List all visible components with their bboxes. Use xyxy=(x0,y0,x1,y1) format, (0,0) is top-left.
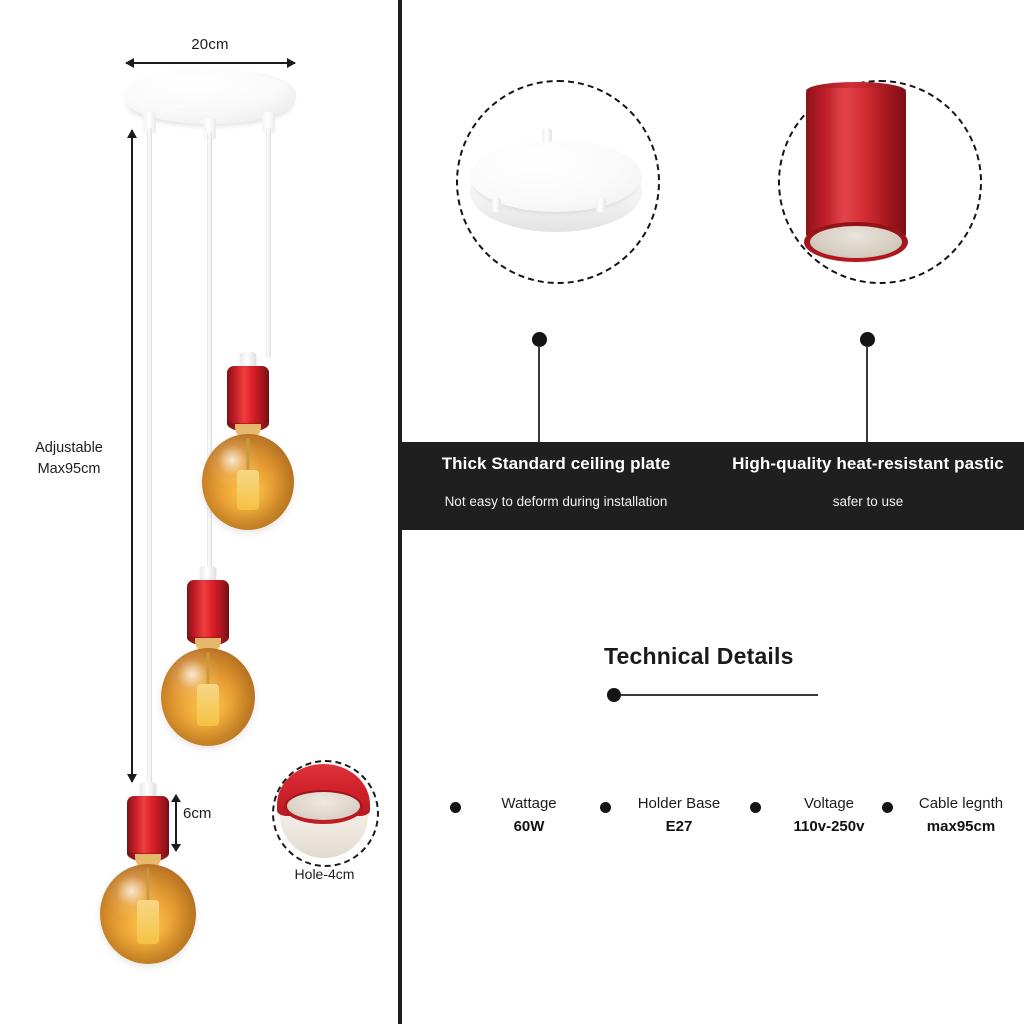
feature-title: Thick Standard ceiling plate xyxy=(400,454,712,474)
callout-pointer-dot-1 xyxy=(532,332,547,347)
callout-pointer-dot-2 xyxy=(860,332,875,347)
technical-details-rule xyxy=(620,694,818,696)
infographic-canvas: 20cm Adjustable Max95cm xyxy=(0,0,1024,1024)
plate-width-label: 20cm xyxy=(125,36,295,53)
cable-3 xyxy=(266,128,271,358)
callout-pointer-line-1 xyxy=(538,346,540,442)
lamp-holder xyxy=(127,796,169,858)
cable-1 xyxy=(147,128,152,788)
lamp-holder xyxy=(227,366,269,428)
bulb-filament xyxy=(237,470,259,510)
ceiling-plate-photo-outlet-1 xyxy=(542,128,552,142)
pendant-lamp-top xyxy=(247,352,249,552)
adjustable-label-line2: Max95cm xyxy=(14,459,124,480)
pendant-lamp-bottom xyxy=(147,782,149,997)
spec-value: 110v-250v xyxy=(768,818,890,835)
lamp-holder xyxy=(187,580,229,642)
feature-banner-item-ceiling-plate: Thick Standard ceiling plate Not easy to… xyxy=(400,442,712,530)
feature-banner-item-lamp-holder: High-quality heat-resistant pastic safer… xyxy=(712,442,1024,530)
technical-spec-list: Wattage 60W Holder Base E27 Voltage 110v… xyxy=(440,795,1020,855)
spec-label: Wattage xyxy=(468,795,590,812)
product-diagram-panel: 20cm Adjustable Max95cm xyxy=(0,0,398,1024)
ceiling-plate-photo-outlet-3 xyxy=(596,198,606,212)
ceiling-plate-top xyxy=(130,70,290,112)
holder-height-dimension-arrow xyxy=(175,795,177,851)
callout-pointer-line-2 xyxy=(866,346,868,442)
adjustable-label-line1: Adjustable xyxy=(14,438,124,459)
feature-subtitle: Not easy to deform during installation xyxy=(400,494,712,509)
hole-detail-opening xyxy=(287,792,360,820)
holder-photo-body xyxy=(806,88,906,238)
spec-label: Voltage xyxy=(768,795,890,812)
bulb-filament xyxy=(197,684,219,726)
spec-label: Cable legnth xyxy=(900,795,1022,812)
spec-value: E27 xyxy=(618,818,740,835)
bulb-filament xyxy=(137,900,159,944)
feature-subtitle: safer to use xyxy=(712,494,1024,509)
bullet-dot-icon xyxy=(450,802,461,813)
ceiling-plate-photo-outlet-2 xyxy=(491,198,501,212)
adjustable-length-arrow xyxy=(131,130,133,782)
plate-width-dimension-arrow xyxy=(126,62,295,64)
feature-title: High-quality heat-resistant pastic xyxy=(712,454,1024,474)
bullet-dot-icon xyxy=(882,802,893,813)
spec-label: Holder Base xyxy=(618,795,740,812)
adjustable-length-label: Adjustable Max95cm xyxy=(14,438,124,480)
spec-value: 60W xyxy=(468,818,590,835)
technical-details-heading: Technical Details xyxy=(604,643,794,670)
feature-banner: Thick Standard ceiling plate Not easy to… xyxy=(400,442,1024,530)
holder-height-label: 6cm xyxy=(183,805,211,822)
bullet-dot-icon xyxy=(750,802,761,813)
spec-value: max95cm xyxy=(900,818,1022,835)
pendant-lamp-middle xyxy=(207,566,209,776)
hole-size-label: Hole-4cm xyxy=(272,866,377,882)
technical-details-rule-dot xyxy=(607,688,621,702)
bullet-dot-icon xyxy=(600,802,611,813)
holder-photo-opening xyxy=(810,226,902,258)
